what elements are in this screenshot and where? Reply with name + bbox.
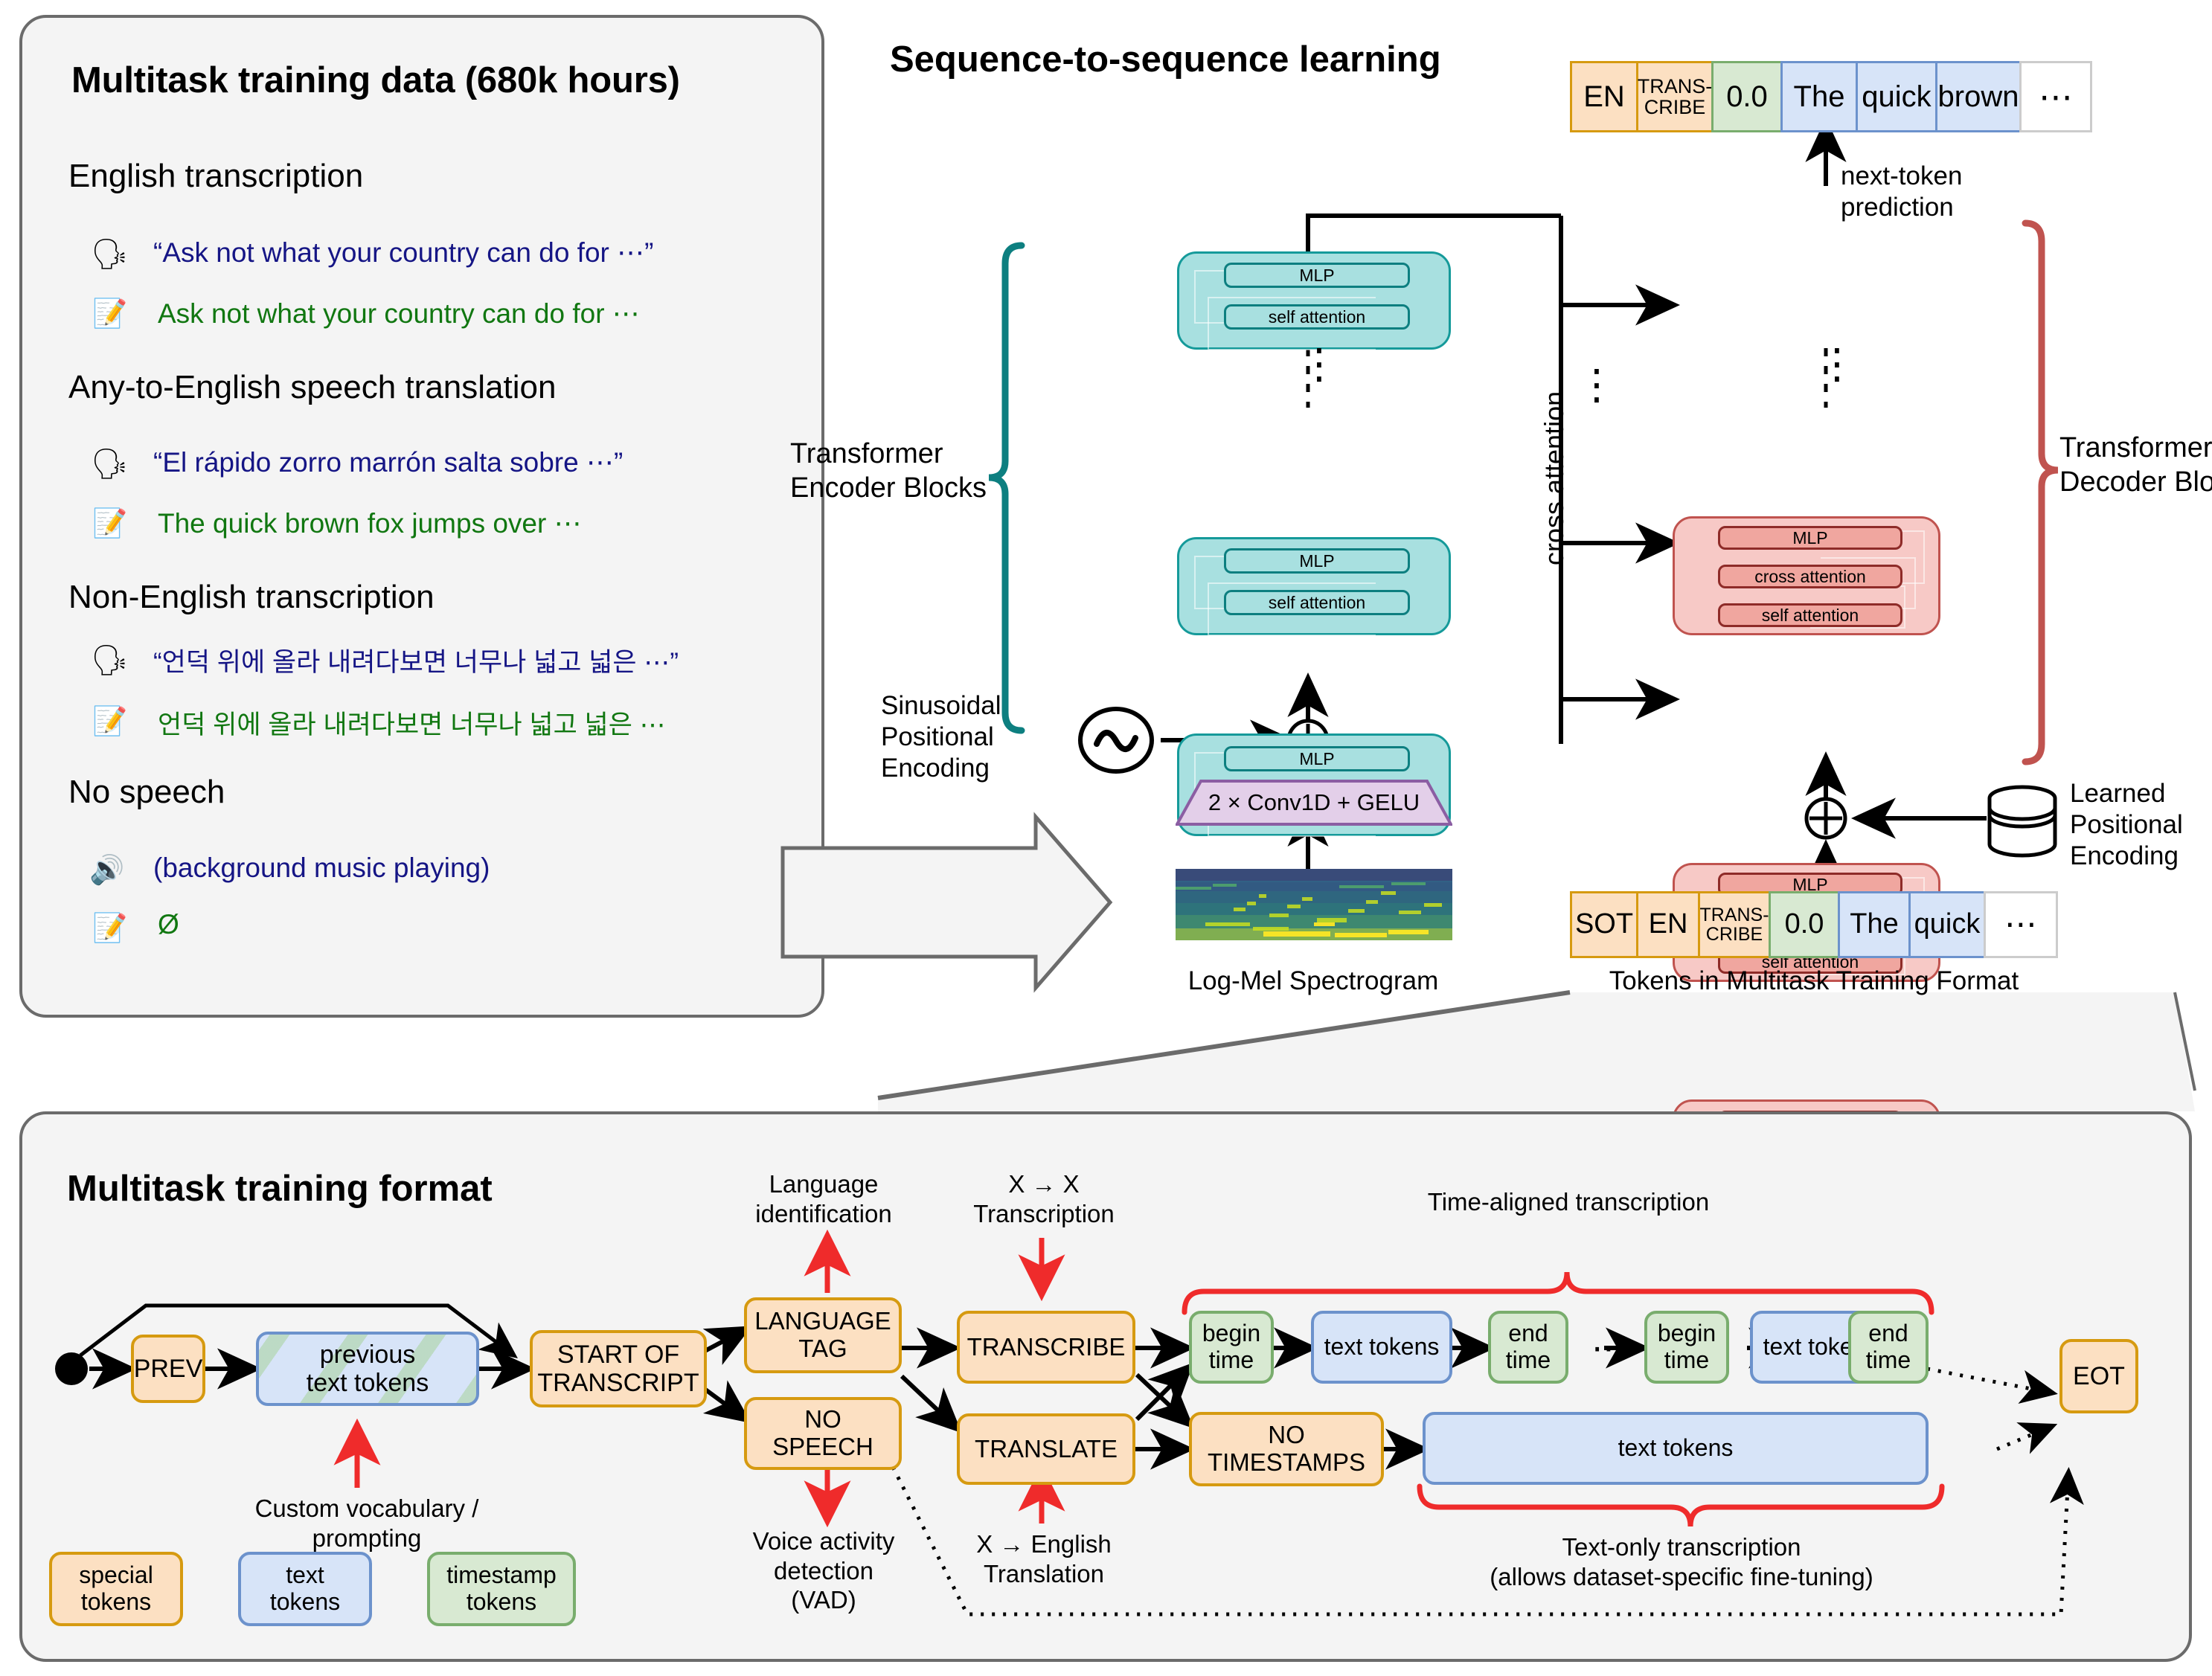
speech-sample-1: “Ask not what your country can do for ⋯”	[153, 237, 653, 269]
output-token-transcribe[interactable]: TRANS- CRIBE	[1636, 61, 1714, 132]
section-heading-no-speech: No speech	[68, 774, 225, 811]
node-end-time-1[interactable]: end time	[1488, 1311, 1568, 1384]
input-token-ellipsis: ⋯	[1984, 891, 2058, 958]
encoder-vertical-dots: ⋮	[1298, 351, 1340, 376]
output-token-row: EN TRANS- CRIBE 0.0 The quick brown ⋯	[1570, 61, 2092, 132]
encoder-bracket-label: Transformer Encoder Blocks	[790, 437, 998, 505]
input-token-the[interactable]: The	[1838, 891, 1911, 958]
annotation-time-aligned-transcription: Time-aligned transcription	[1375, 1187, 1762, 1217]
node-language-tag[interactable]: LANGUAGE TAG	[744, 1297, 902, 1373]
input-token-row: SOT EN TRANS- CRIBE 0.0 The quick ⋯	[1570, 891, 2058, 958]
encoder-block-middle: MLP self attention	[1177, 537, 1451, 635]
section-heading-english-transcription: English transcription	[68, 158, 363, 195]
node-no-timestamps-label: NO TIMESTAMPS	[1208, 1422, 1365, 1477]
node-begin-time-1[interactable]: begin time	[1189, 1311, 1274, 1384]
node-start-of-transcript[interactable]: START OF TRANSCRIPT	[530, 1330, 707, 1407]
annotation-custom-vocabulary: Custom vocabulary / prompting	[244, 1494, 490, 1553]
node-prev[interactable]: PREV	[131, 1335, 205, 1403]
encoder-mlp: MLP	[1224, 263, 1410, 288]
speaking-head-icon: 🗣	[91, 237, 129, 272]
encoder-block-top: MLP self attention	[1177, 251, 1451, 350]
memo-pencil-icon: 📝	[92, 507, 127, 540]
seq2seq-title: Sequence-to-sequence learning	[890, 39, 1441, 80]
input-token-timestamp[interactable]: 0.0	[1769, 891, 1840, 958]
legend-special-tokens: special tokens	[49, 1552, 183, 1626]
decoder-bracket-label: Transformer Decoder Blocks	[2059, 431, 2212, 499]
tokens-caption: Tokens in Multitask Training Format	[1554, 966, 2074, 997]
node-end-time-2[interactable]: end time	[1848, 1311, 1929, 1384]
memo-pencil-icon: 📝	[92, 912, 127, 945]
annotation-x-to-english-translation: X → English Translation	[951, 1529, 1137, 1588]
output-token-ellipsis: ⋯	[2019, 61, 2092, 132]
speech-sample-2: “El rápido zorro marrón salta sobre ⋯”	[153, 446, 623, 478]
output-token-timestamp[interactable]: 0.0	[1711, 61, 1783, 132]
log-mel-spectrogram	[1176, 869, 1452, 940]
speech-sample-3: “언덕 위에 올라 내려다보면 너무나 넓고 넓은 ⋯”	[153, 641, 679, 679]
left-panel-title: Multitask training data (680k hours)	[71, 60, 786, 101]
node-previous-text-tokens[interactable]: previous text tokens	[256, 1332, 479, 1406]
learned-positional-encoding-label: Learned Positional Encoding	[2070, 778, 2212, 872]
node-start-of-transcript-label: START OF TRANSCRIPT	[537, 1341, 699, 1397]
decoder-block-top: MLP cross attention self attention	[1673, 516, 1940, 635]
legend-special-tokens-label: special tokens	[79, 1562, 153, 1616]
node-eot[interactable]: EOT	[2059, 1339, 2138, 1413]
annotation-language-identification: Language identification	[731, 1169, 917, 1228]
legend-text-tokens-label: text tokens	[270, 1562, 340, 1616]
annotation-text-only-transcription: Text-only transcription (allows dataset-…	[1451, 1532, 1912, 1591]
node-end-time-1-label: end time	[1506, 1320, 1551, 1374]
node-begin-time-1-label: begin time	[1202, 1320, 1260, 1374]
section-heading-speech-translation: Any-to-English speech translation	[68, 369, 556, 406]
transcript-sample-3: 언덕 위에 올라 내려다보면 너무나 넓고 넓은 ⋯	[158, 704, 666, 742]
output-token-brown[interactable]: brown	[1935, 61, 2022, 132]
input-token-en[interactable]: EN	[1636, 891, 1700, 958]
node-no-speech[interactable]: NO SPEECH	[744, 1397, 902, 1470]
decoder-self-attention: self attention	[1718, 603, 1902, 627]
encoder-self-attention: self attention	[1224, 304, 1410, 330]
node-text-tokens-1[interactable]: text tokens	[1311, 1311, 1452, 1384]
node-text-tokens-long[interactable]: text tokens	[1423, 1412, 1929, 1485]
log-mel-spectrogram-caption: Log-Mel Spectrogram	[1123, 966, 1503, 997]
sinusoidal-positional-encoding-label: Sinusoidal Positional Encoding	[881, 690, 1074, 784]
node-translate[interactable]: TRANSLATE	[957, 1413, 1135, 1485]
node-no-timestamps[interactable]: NO TIMESTAMPS	[1189, 1412, 1384, 1486]
legend-timestamp-tokens-label: timestamp tokens	[446, 1562, 557, 1616]
timestamp-chain-ellipsis: ⋯	[1579, 1318, 1638, 1378]
node-no-speech-label: NO SPEECH	[772, 1406, 873, 1461]
legend-text-tokens: text tokens	[238, 1552, 372, 1626]
section-heading-non-english-transcription: Non-English transcription	[68, 579, 435, 616]
speech-sample-4: (background music playing)	[153, 853, 490, 884]
encoder-self-attention: self attention	[1224, 590, 1410, 615]
annotation-voice-activity-detection: Voice activity detection (VAD)	[731, 1526, 917, 1615]
bottom-panel-title: Multitask training format	[67, 1168, 493, 1210]
memo-pencil-icon: 📝	[92, 298, 127, 330]
transcript-sample-2: The quick brown fox jumps over ⋯	[158, 507, 582, 539]
memo-pencil-icon: 📝	[92, 705, 127, 738]
speaking-head-icon: 🗣	[91, 643, 129, 678]
annotation-x-to-x-transcription: X → X Transcription	[951, 1169, 1137, 1228]
input-token-quick[interactable]: quick	[1908, 891, 1986, 958]
node-transcribe[interactable]: TRANSCRIBE	[957, 1311, 1135, 1384]
input-token-transcribe[interactable]: TRANS- CRIBE	[1698, 891, 1771, 958]
next-token-prediction-label: next-token prediction	[1841, 161, 2064, 223]
cross-attention-vertical-dots: ⋮	[1576, 372, 1618, 397]
node-language-tag-label: LANGUAGE TAG	[754, 1308, 891, 1363]
output-token-en[interactable]: EN	[1570, 61, 1638, 132]
node-begin-time-2-label: begin time	[1658, 1320, 1716, 1374]
decoder-vertical-dots: ⋮	[1816, 351, 1858, 376]
conv1d-gelu-label: 2 × Conv1D + GELU	[1176, 780, 1452, 826]
input-token-sot[interactable]: SOT	[1570, 891, 1638, 958]
transcript-sample-1: Ask not what your country can do for ⋯	[158, 298, 640, 330]
loud-speaker-icon: 🔊	[89, 854, 124, 887]
cross-attention-label: cross attention	[1539, 342, 1570, 565]
conv1d-gelu-block: 2 × Conv1D + GELU	[1176, 780, 1452, 826]
node-begin-time-2[interactable]: begin time	[1644, 1311, 1729, 1384]
encoder-mlp: MLP	[1224, 746, 1410, 771]
node-previous-text-tokens-label: previous text tokens	[307, 1341, 429, 1397]
speaking-head-icon: 🗣	[91, 446, 129, 481]
output-token-the[interactable]: The	[1780, 61, 1858, 132]
decoder-mlp: MLP	[1718, 526, 1902, 550]
encoder-mlp: MLP	[1224, 548, 1410, 574]
legend-timestamp-tokens: timestamp tokens	[427, 1552, 576, 1626]
transcript-sample-4: Ø	[158, 909, 179, 940]
output-token-quick[interactable]: quick	[1856, 61, 1937, 132]
decoder-cross-attention: cross attention	[1718, 565, 1902, 588]
node-end-time-2-label: end time	[1866, 1320, 1911, 1374]
